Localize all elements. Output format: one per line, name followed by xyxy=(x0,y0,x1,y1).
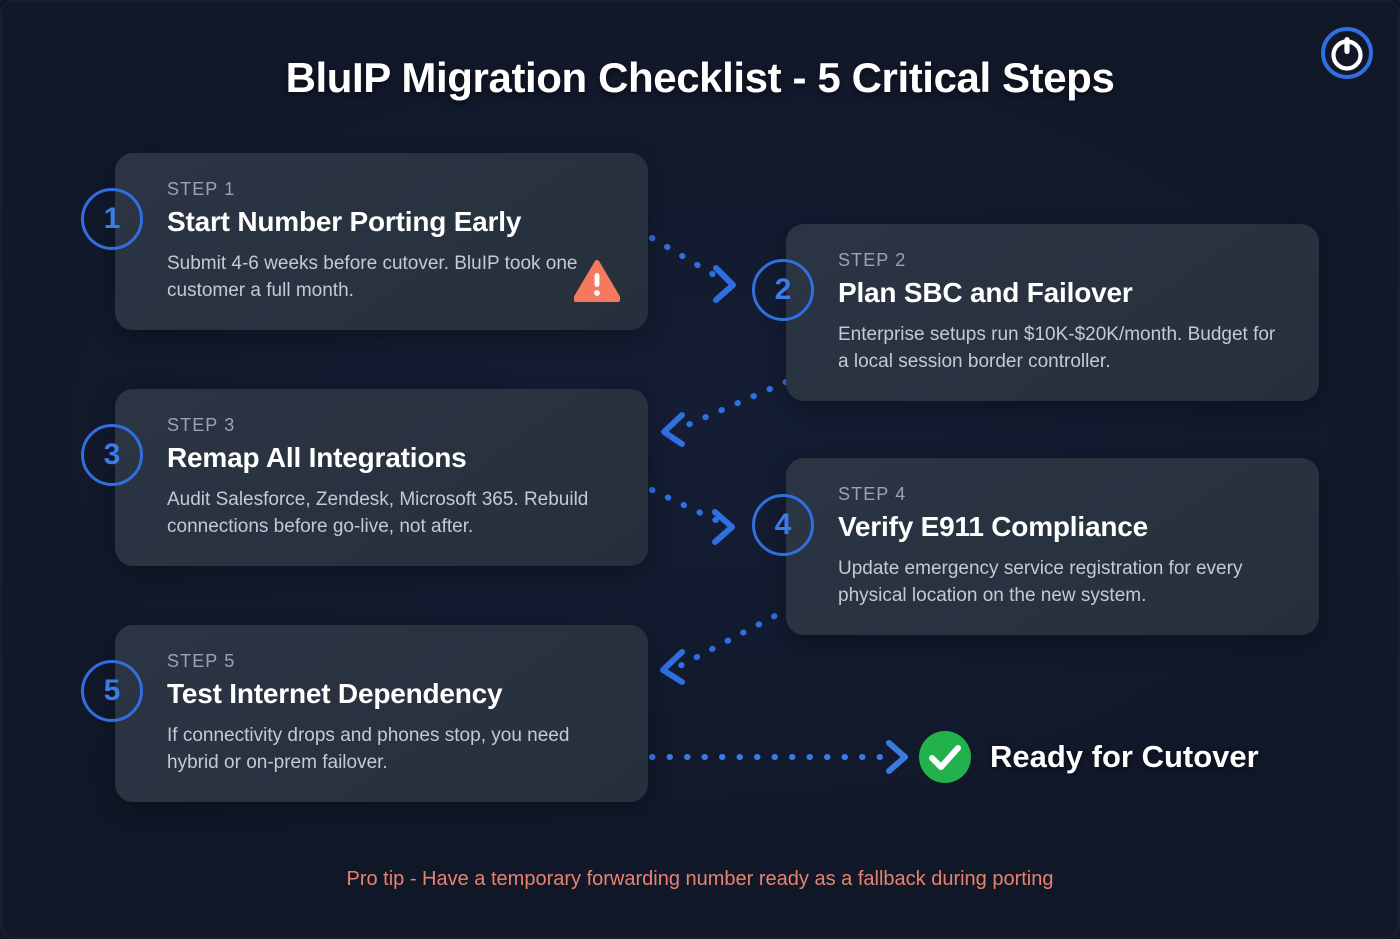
connector-step2-step3 xyxy=(664,382,786,444)
warning-triangle-icon xyxy=(574,260,620,302)
step-label-5: STEP 5 xyxy=(167,651,618,672)
step-number-1: 1 xyxy=(104,202,121,236)
step-description-3: Audit Salesforce, Zendesk, Microsoft 365… xyxy=(167,486,618,540)
step-number-3: 3 xyxy=(104,438,121,472)
step-number-5: 5 xyxy=(104,674,121,708)
step-description-1: Submit 4-6 weeks before cutover. BluIP t… xyxy=(167,250,618,304)
connector-step1-step2 xyxy=(652,238,733,300)
step-description-5: If connectivity drops and phones stop, y… xyxy=(167,722,618,776)
outcome-label: Ready for Cutover xyxy=(990,739,1259,775)
power-icon[interactable] xyxy=(1320,26,1374,80)
step-title-2: Plan SBC and Failover xyxy=(838,277,1289,309)
connector-step5-outcome xyxy=(652,743,905,771)
step-card-5[interactable]: STEP 5 Test Internet Dependency If conne… xyxy=(115,625,648,802)
step-card-1[interactable]: STEP 1 Start Number Porting Early Submit… xyxy=(115,153,648,330)
step-description-2: Enterprise setups run $10K-$20K/month. B… xyxy=(838,321,1289,375)
step-title-5: Test Internet Dependency xyxy=(167,678,618,710)
pro-tip-text: Pro tip - Have a temporary forwarding nu… xyxy=(0,868,1400,891)
step-card-3[interactable]: STEP 3 Remap All Integrations Audit Sale… xyxy=(115,389,648,566)
step-title-1: Start Number Porting Early xyxy=(167,206,618,238)
step-card-4[interactable]: STEP 4 Verify E911 Compliance Update eme… xyxy=(786,458,1319,635)
connector-step3-step4 xyxy=(652,490,732,542)
infographic-canvas: BluIP Migration Checklist - 5 Critical S… xyxy=(0,0,1400,939)
check-circle-icon xyxy=(918,730,972,784)
page-title: BluIP Migration Checklist - 5 Critical S… xyxy=(0,54,1400,102)
step-badge-4: 4 xyxy=(752,494,814,556)
step-number-2: 2 xyxy=(775,273,792,307)
step-card-2[interactable]: STEP 2 Plan SBC and Failover Enterprise … xyxy=(786,224,1319,401)
step-label-3: STEP 3 xyxy=(167,415,618,436)
step-title-4: Verify E911 Compliance xyxy=(838,511,1289,543)
step-label-1: STEP 1 xyxy=(167,179,618,200)
step-title-3: Remap All Integrations xyxy=(167,442,618,474)
step-label-2: STEP 2 xyxy=(838,250,1289,271)
step-badge-5: 5 xyxy=(81,660,143,722)
outcome-ready-for-cutover: Ready for Cutover xyxy=(918,730,1259,784)
step-badge-1: 1 xyxy=(81,188,143,250)
step-description-4: Update emergency service registration fo… xyxy=(838,555,1289,609)
step-badge-2: 2 xyxy=(752,259,814,321)
step-label-4: STEP 4 xyxy=(838,484,1289,505)
step-number-4: 4 xyxy=(775,508,792,542)
connector-step4-step5 xyxy=(663,608,790,682)
step-badge-3: 3 xyxy=(81,424,143,486)
